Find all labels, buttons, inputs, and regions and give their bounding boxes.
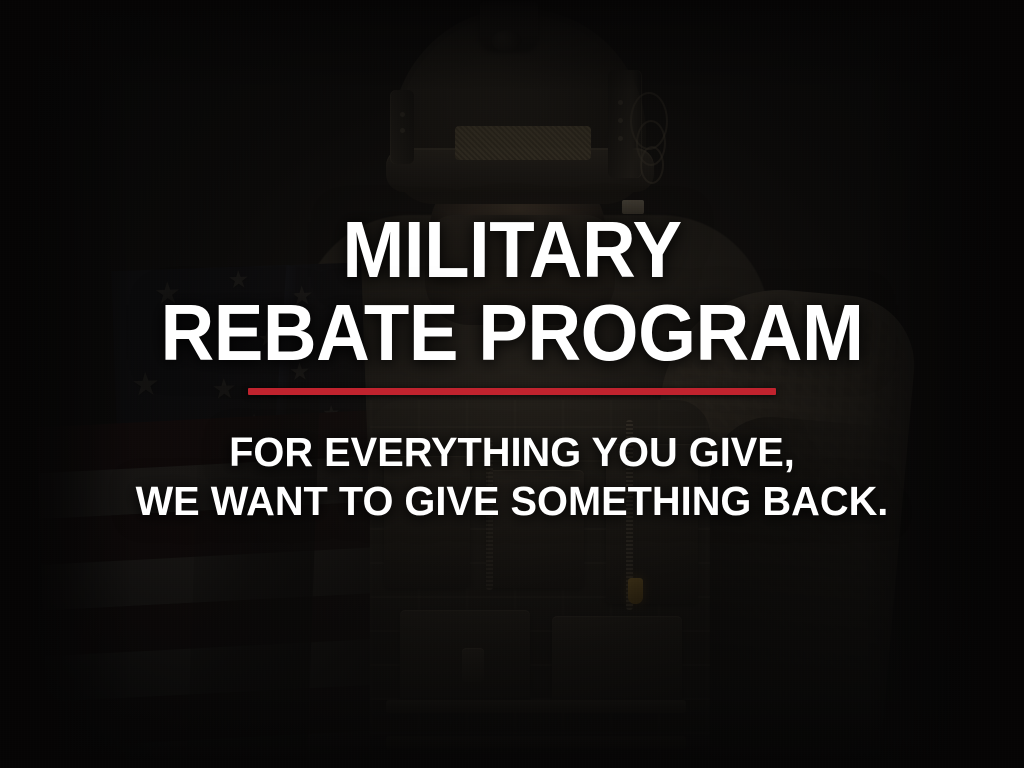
subtitle-line-2: WE WANT TO GIVE SOMETHING BACK.: [15, 480, 1008, 523]
headline-line-2: REBATE PROGRAM: [36, 295, 988, 372]
text-overlay: MILITARY REBATE PROGRAM FOR EVERYTHING Y…: [0, 0, 1024, 768]
red-divider-rule: [248, 388, 776, 395]
headline-line-1: MILITARY: [36, 212, 988, 289]
subtitle-line-1: FOR EVERYTHING YOU GIVE,: [15, 431, 1008, 474]
divider-wrap: [0, 388, 1024, 395]
military-rebate-program-poster: ★ ★ ★ ★ ★ ★ ★ ★ ★ ★: [0, 0, 1024, 768]
